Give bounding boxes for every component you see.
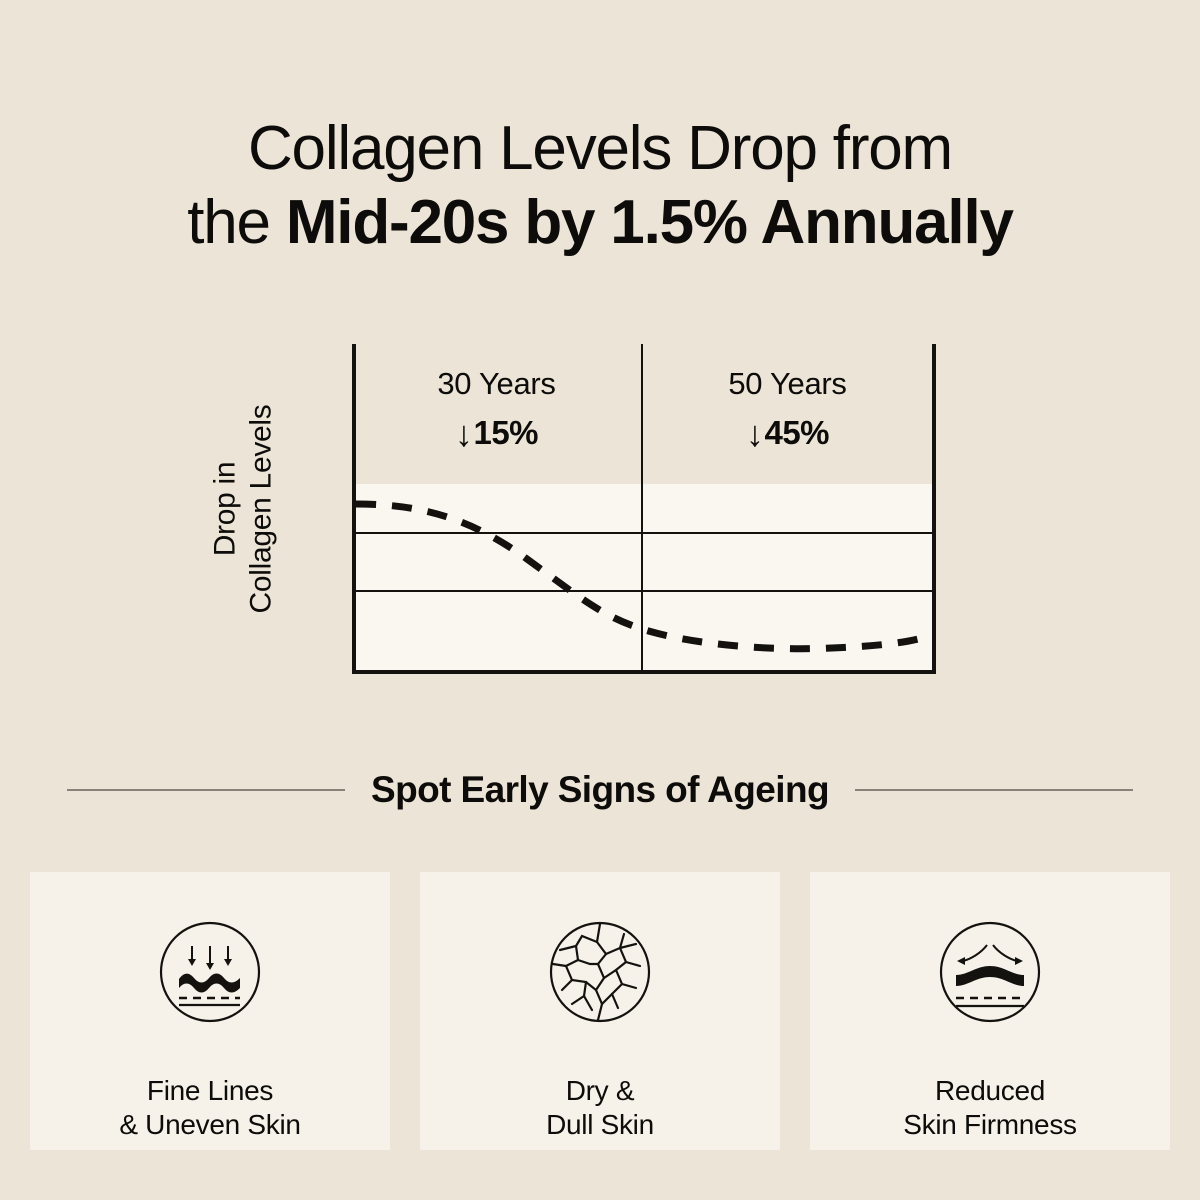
section-rule-left	[67, 789, 345, 791]
title-line-2: the Mid-20s by 1.5% Annually	[0, 186, 1200, 260]
chart-y-axis-label: Drop in Collagen Levels	[252, 344, 348, 674]
reduced-firmness-icon	[938, 920, 1042, 1024]
chart-column-30-years: 30 Years ↓15%	[352, 366, 641, 452]
card-fine-lines-label: Fine Lines & Uneven Skin	[119, 1074, 300, 1142]
title-line-2-prefix: the	[187, 188, 286, 257]
card-dry-dull-skin-label: Dry & Dull Skin	[546, 1074, 654, 1142]
arrow-down-icon: ↓	[746, 416, 764, 452]
chart-column-50-years: 50 Years ↓45%	[643, 366, 932, 452]
column-50-years-drop-value: 45%	[764, 414, 829, 452]
title-line-2-bold: Mid-20s by 1.5% Annually	[286, 188, 1013, 257]
card-reduced-firmness[interactable]: Reduced Skin Firmness	[810, 872, 1170, 1150]
card-dry-dull-skin[interactable]: Dry & Dull Skin	[420, 872, 780, 1150]
collagen-decline-chart: Drop in Collagen Levels 30 Years ↓15%	[0, 330, 1200, 690]
chart-plot-area: 30 Years ↓15% 50 Years ↓45%	[352, 344, 936, 674]
title-line-1: Collagen Levels Drop from	[0, 112, 1200, 186]
cracked-dry-skin-icon	[548, 920, 652, 1024]
card-dry-dull-skin-label-line-2: Dull Skin	[546, 1108, 654, 1142]
signs-of-ageing-cards: Fine Lines & Uneven Skin	[30, 872, 1170, 1150]
y-axis-label-line-1: Drop in	[208, 405, 244, 614]
column-30-years-drop-value: 15%	[473, 414, 538, 452]
section-title: Spot Early Signs of Ageing	[371, 769, 829, 811]
page-title: Collagen Levels Drop from the Mid-20s by…	[0, 112, 1200, 260]
y-axis-label-line-2: Collagen Levels	[244, 405, 280, 614]
section-header: Spot Early Signs of Ageing	[0, 760, 1200, 820]
column-50-years-label: 50 Years	[643, 366, 932, 402]
card-reduced-firmness-label-line-2: Skin Firmness	[903, 1108, 1076, 1142]
card-reduced-firmness-label-line-1: Reduced	[935, 1075, 1045, 1106]
column-30-years-label: 30 Years	[352, 366, 641, 402]
infographic-page: Collagen Levels Drop from the Mid-20s by…	[0, 0, 1200, 1200]
column-50-years-drop: ↓45%	[643, 414, 932, 452]
arrow-down-icon: ↓	[455, 416, 473, 452]
card-reduced-firmness-label: Reduced Skin Firmness	[903, 1074, 1076, 1142]
column-30-years-drop: ↓15%	[352, 414, 641, 452]
section-rule-right	[855, 789, 1133, 791]
card-fine-lines-label-line-1: Fine Lines	[147, 1075, 273, 1106]
card-fine-lines-label-line-2: & Uneven Skin	[119, 1108, 300, 1142]
card-fine-lines[interactable]: Fine Lines & Uneven Skin	[30, 872, 390, 1150]
card-dry-dull-skin-label-line-1: Dry &	[566, 1075, 635, 1106]
fine-lines-icon	[158, 920, 262, 1024]
